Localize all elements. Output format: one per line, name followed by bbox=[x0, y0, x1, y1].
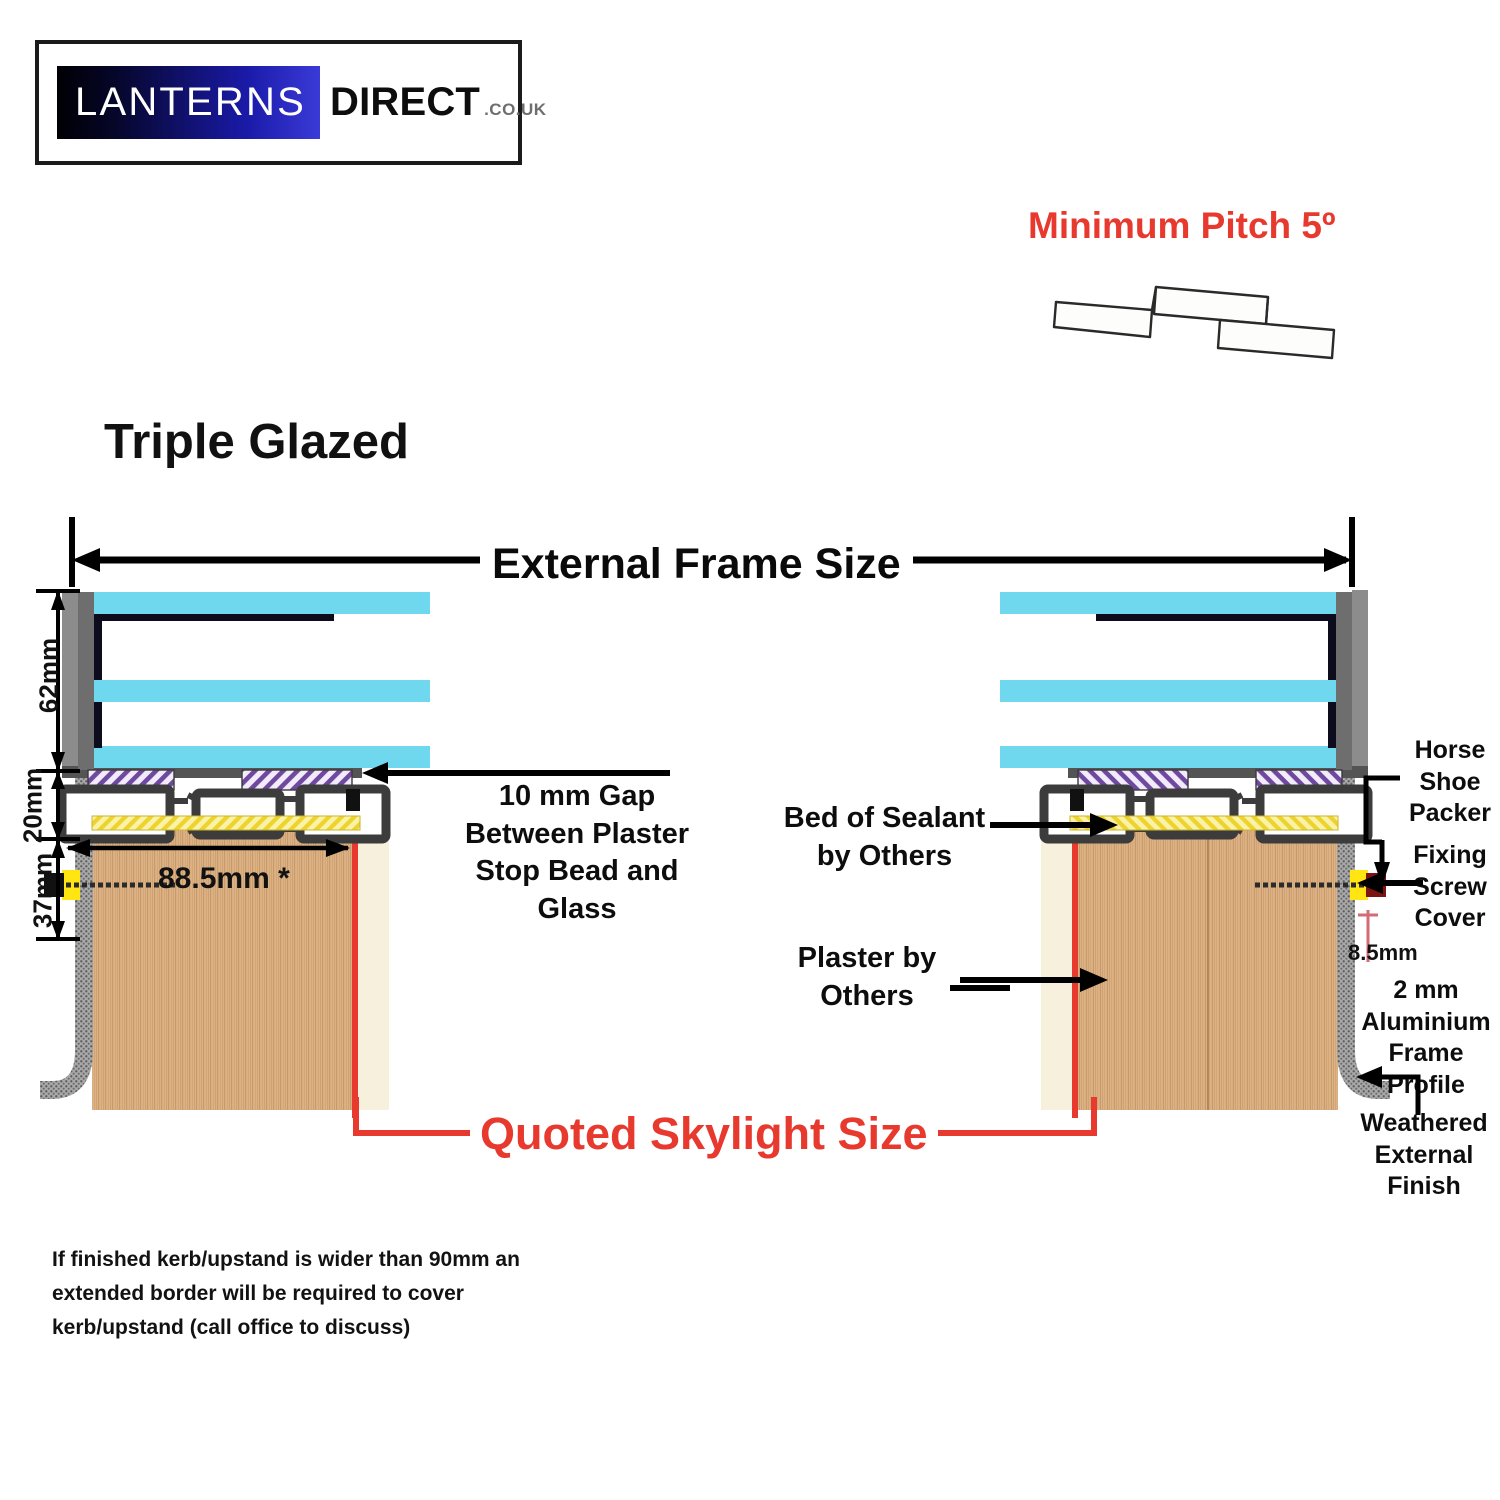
callout-leader-lines bbox=[350, 760, 1010, 1030]
quoted-skylight-size-label: Quoted Skylight Size bbox=[470, 1108, 938, 1160]
fixing-screw-arrow bbox=[1345, 868, 1425, 898]
pitch-profile-icon bbox=[1040, 275, 1350, 370]
profile-offset-label: 8.5mm bbox=[1348, 940, 1426, 966]
kerb-width-label: 88.5mm * bbox=[152, 862, 296, 896]
logo-tld-text: .CO.UK bbox=[484, 100, 547, 120]
triple-glazed-heading: Triple Glazed bbox=[104, 414, 409, 470]
external-frame-size-label: External Frame Size bbox=[480, 540, 913, 589]
logo-inner: LANTERNS DIRECT .CO.UK bbox=[57, 66, 547, 139]
logo-gradient-block: LANTERNS bbox=[57, 66, 320, 139]
brand-logo: LANTERNS DIRECT .CO.UK bbox=[35, 40, 522, 165]
logo-right-group: DIRECT .CO.UK bbox=[320, 80, 547, 125]
sealant-arrow bbox=[990, 810, 1120, 840]
logo-lanterns-text: LANTERNS bbox=[75, 80, 306, 125]
kerb-width-footnote: If finished kerb/upstand is wider than 9… bbox=[52, 1243, 522, 1345]
plaster-arrow bbox=[960, 965, 1110, 995]
logo-direct-text: DIRECT bbox=[330, 80, 480, 125]
kerb-height-label: 37mm bbox=[28, 836, 59, 946]
minimum-pitch-heading: Minimum Pitch 5º bbox=[1028, 205, 1336, 247]
weathered-finish-leader bbox=[1330, 1055, 1440, 1125]
glass-depth-label: 62mm bbox=[34, 621, 65, 731]
